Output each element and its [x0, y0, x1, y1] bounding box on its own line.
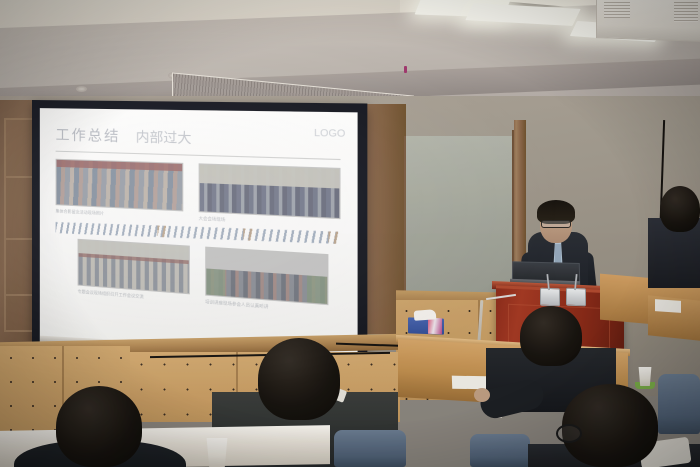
audience-front-left-head: [56, 386, 142, 467]
conference-room-photo: 工作总结 内部过大 LOGO 集体合影留念活动现场照片 大会会场现场: [0, 0, 700, 467]
microphone-base: [540, 288, 560, 307]
chevron-accent: [243, 228, 253, 240]
lecture-hall-photo: [205, 247, 328, 306]
eyeglasses-icon: [556, 424, 582, 443]
chair: [334, 430, 406, 467]
slide-subtitle: 内部过大: [136, 126, 192, 147]
sprinkler-head-icon: [404, 66, 407, 73]
chair: [658, 374, 700, 434]
slide-photo-cell: 专题会议现场组织召开工作会议交流: [78, 239, 190, 304]
slide-photo-cell: 培训讲座现场参会人员认真听讲: [205, 247, 328, 316]
slide-logo-icon: LOGO: [314, 127, 340, 154]
chair: [470, 434, 530, 467]
audience-center-head: [258, 338, 340, 420]
slide-photo-cell: 集体合影留念活动现场照片: [56, 159, 184, 221]
panel-divider: [6, 176, 33, 178]
projector-vent-icon: [674, 2, 698, 22]
chevron-accent: [328, 231, 339, 244]
projector-vent-icon: [604, 2, 630, 18]
audience-mid-right-hand: [474, 388, 490, 402]
group-photo-banner: [56, 159, 184, 212]
chevron-accent: [157, 225, 167, 237]
slide-header: 工作总结 内部过大: [56, 124, 341, 152]
slide-photo-row-top: 集体合影留念活动现场照片 大会会场现场: [56, 159, 341, 229]
audience-far-right-head: [660, 186, 700, 232]
slide-title-rule: [56, 151, 341, 160]
slide-photo-cell: 大会会场现场: [199, 163, 341, 229]
tissue-box-label: [428, 318, 442, 334]
panel-divider: [6, 238, 33, 240]
eyeglasses-icon: [541, 220, 571, 228]
conference-hall-photo: [199, 163, 341, 219]
audience-mid-right-head: [520, 306, 582, 366]
downlight-icon: [76, 86, 87, 92]
paper-sheet: [655, 299, 681, 313]
tissue-sheet: [414, 309, 437, 321]
slide-title: 工作总结: [56, 126, 121, 144]
slide-photo-row-bottom: 专题会议现场组织召开工作会议交流 培训讲座现场参会人员认真听讲: [56, 237, 341, 316]
meeting-room-photo: [78, 239, 190, 295]
microphone-base: [566, 288, 586, 307]
panel-divider: [6, 294, 33, 296]
